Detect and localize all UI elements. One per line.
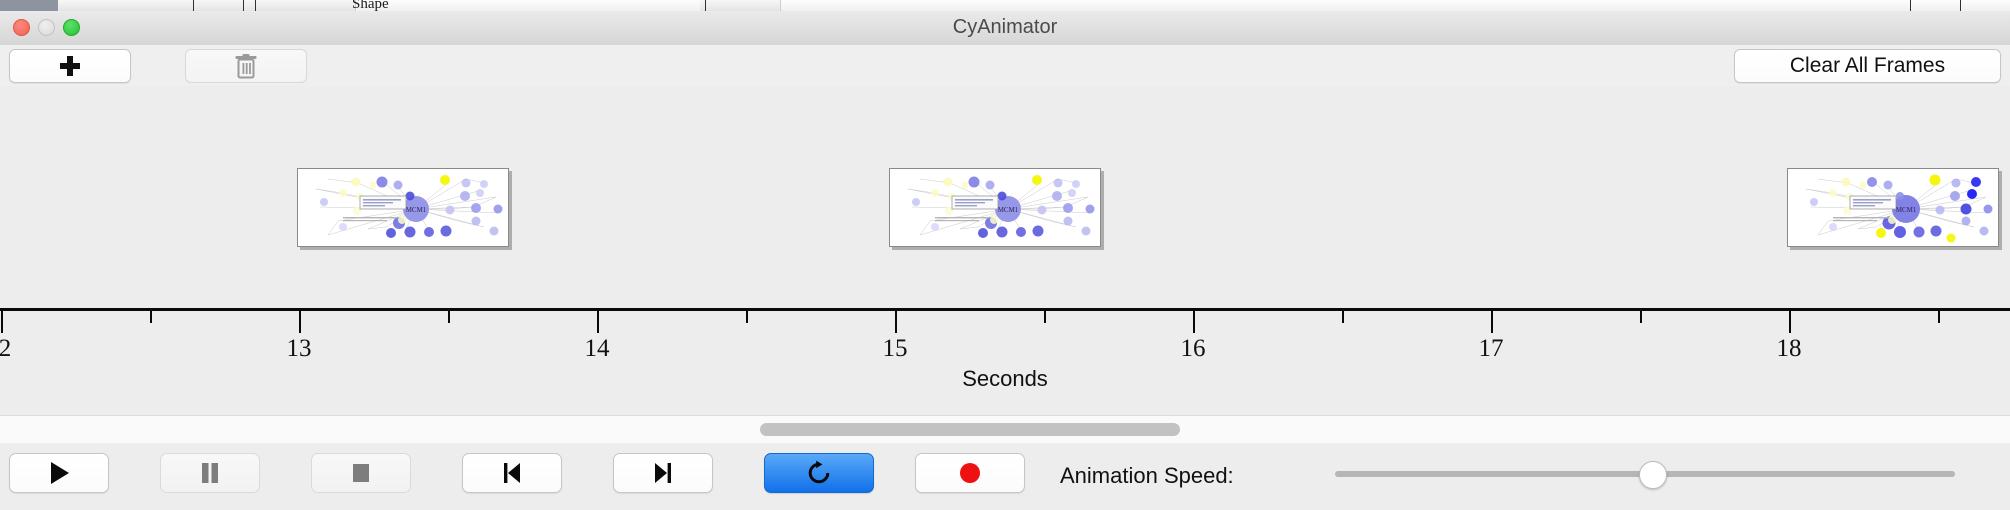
delete-frame-button[interactable] bbox=[185, 49, 307, 83]
stop-button[interactable] bbox=[311, 453, 411, 493]
axis-tick bbox=[1640, 311, 1642, 323]
frame-toolbar: Clear All Frames bbox=[0, 45, 2010, 87]
skip-forward-icon bbox=[652, 461, 674, 485]
bg-chip bbox=[700, 0, 781, 11]
trash-icon bbox=[234, 53, 258, 79]
stop-icon bbox=[350, 461, 372, 485]
record-icon bbox=[958, 461, 982, 485]
axis-tick bbox=[895, 311, 897, 333]
frame-thumbnail[interactable]: MCM1 bbox=[1787, 168, 1999, 247]
timeline-scrollbar[interactable] bbox=[0, 415, 2010, 444]
axis-tick bbox=[1789, 311, 1791, 333]
axis-tick bbox=[1491, 311, 1493, 333]
bg-chip bbox=[295, 0, 356, 11]
cyanimator-window: Shape CyAnimator Clear All Frames bbox=[0, 0, 2010, 510]
axis-tick-label: 17 bbox=[1479, 335, 1504, 363]
scrollbar-thumb[interactable] bbox=[760, 423, 1180, 436]
network-graph-thumbnail: MCM1 bbox=[298, 169, 508, 246]
next-button[interactable] bbox=[613, 453, 713, 493]
animation-speed-label: Animation Speed: bbox=[1060, 463, 1234, 489]
previous-button[interactable] bbox=[462, 453, 562, 493]
axis-tick bbox=[1044, 311, 1046, 323]
timeline-axis bbox=[0, 308, 2010, 311]
svg-text:MCM1: MCM1 bbox=[998, 206, 1019, 214]
bg-chip bbox=[185, 0, 296, 11]
svg-text:MCM1: MCM1 bbox=[406, 206, 427, 214]
animation-speed-thumb[interactable] bbox=[1639, 461, 1667, 489]
pause-icon bbox=[199, 461, 221, 485]
axis-tick-label: 2 bbox=[0, 335, 11, 363]
network-graph-thumbnail: MCM1 bbox=[1788, 169, 1998, 246]
axis-tick bbox=[1193, 311, 1195, 333]
timeline-panel[interactable]: MCM1 bbox=[0, 86, 2010, 415]
axis-tick-label: 18 bbox=[1777, 335, 1802, 363]
axis-tick bbox=[1, 311, 3, 333]
bg-tick bbox=[705, 0, 706, 11]
axis-tick bbox=[299, 311, 301, 333]
axis-tick-label: 15 bbox=[883, 335, 908, 363]
bg-tick bbox=[243, 0, 244, 11]
window-title: CyAnimator bbox=[0, 16, 2010, 39]
bg-chip bbox=[58, 0, 141, 11]
network-graph-thumbnail: MCM1 bbox=[890, 169, 1100, 246]
axis-tick bbox=[448, 311, 450, 323]
add-frame-button[interactable] bbox=[9, 49, 131, 83]
bg-chip bbox=[140, 0, 186, 11]
bg-tick bbox=[1910, 0, 1911, 11]
axis-tick bbox=[1342, 311, 1344, 323]
title-bar: CyAnimator bbox=[0, 11, 2010, 46]
bg-tick bbox=[193, 0, 194, 11]
loop-button[interactable] bbox=[764, 453, 874, 493]
pause-button[interactable] bbox=[160, 453, 260, 493]
axis-tick-label: 14 bbox=[585, 335, 610, 363]
frame-thumbnail[interactable]: MCM1 bbox=[889, 168, 1101, 247]
axis-tick-label: 13 bbox=[287, 335, 312, 363]
frame-thumbnail[interactable]: MCM1 bbox=[297, 168, 509, 247]
axis-title: Seconds bbox=[0, 366, 2010, 392]
axis-tick bbox=[746, 311, 748, 323]
axis-tick bbox=[150, 311, 152, 323]
playback-controls: Animation Speed: bbox=[0, 443, 2010, 510]
bg-tick bbox=[1960, 0, 1961, 11]
plus-icon bbox=[60, 56, 80, 76]
axis-tick bbox=[1938, 311, 1940, 323]
bg-tick bbox=[255, 0, 256, 11]
play-button[interactable] bbox=[9, 453, 109, 493]
play-icon bbox=[48, 461, 70, 485]
loop-icon bbox=[806, 460, 832, 486]
bg-chip bbox=[0, 0, 59, 11]
svg-text:MCM1: MCM1 bbox=[1896, 206, 1917, 214]
axis-tick bbox=[597, 311, 599, 333]
clear-all-frames-button[interactable]: Clear All Frames bbox=[1734, 49, 2001, 83]
skip-back-icon bbox=[501, 461, 523, 485]
axis-tick-label: 16 bbox=[1181, 335, 1206, 363]
record-button[interactable] bbox=[915, 453, 1025, 493]
